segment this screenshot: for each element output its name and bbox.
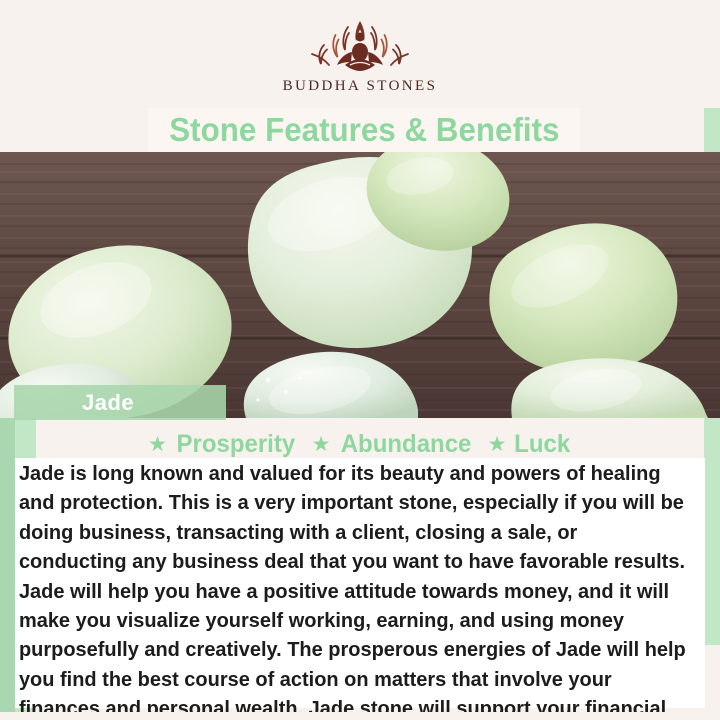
lotus-meditation-icon (304, 13, 416, 75)
benefit-label: Prosperity (176, 430, 295, 459)
benefit-label: Luck (515, 430, 571, 459)
stone-benefits-poster: BUDDHA STONES Stone Features & Benefits (0, 0, 720, 720)
star-icon: ★ (488, 434, 507, 455)
brand-name: BUDDHA STONES (283, 78, 438, 95)
benefit-item-abundance: ★ Abundance (312, 430, 474, 459)
benefit-label: Abundance (340, 430, 471, 459)
jade-stones-illustration (0, 152, 720, 418)
decor-bottom-band (0, 712, 720, 720)
benefit-item-luck: ★ Luck (488, 430, 572, 459)
benefit-item-prosperity: ★ Prosperity (148, 430, 298, 459)
photo-caption-label: Jade (82, 390, 134, 416)
description-text: Jade is long known and valued for its be… (15, 458, 695, 720)
benefits-row: ★ Prosperity ★ Abundance ★ Luck (0, 428, 720, 460)
star-icon: ★ (148, 434, 167, 455)
description-panel: Jade is long known and valued for its be… (15, 458, 705, 708)
brand-header: BUDDHA STONES (0, 0, 720, 108)
title-banner: Stone Features & Benefits (148, 108, 580, 152)
photo-caption-band: Jade (14, 385, 226, 420)
stone-photo (0, 152, 720, 418)
page-title: Stone Features & Benefits (169, 111, 559, 149)
star-icon: ★ (312, 434, 331, 455)
